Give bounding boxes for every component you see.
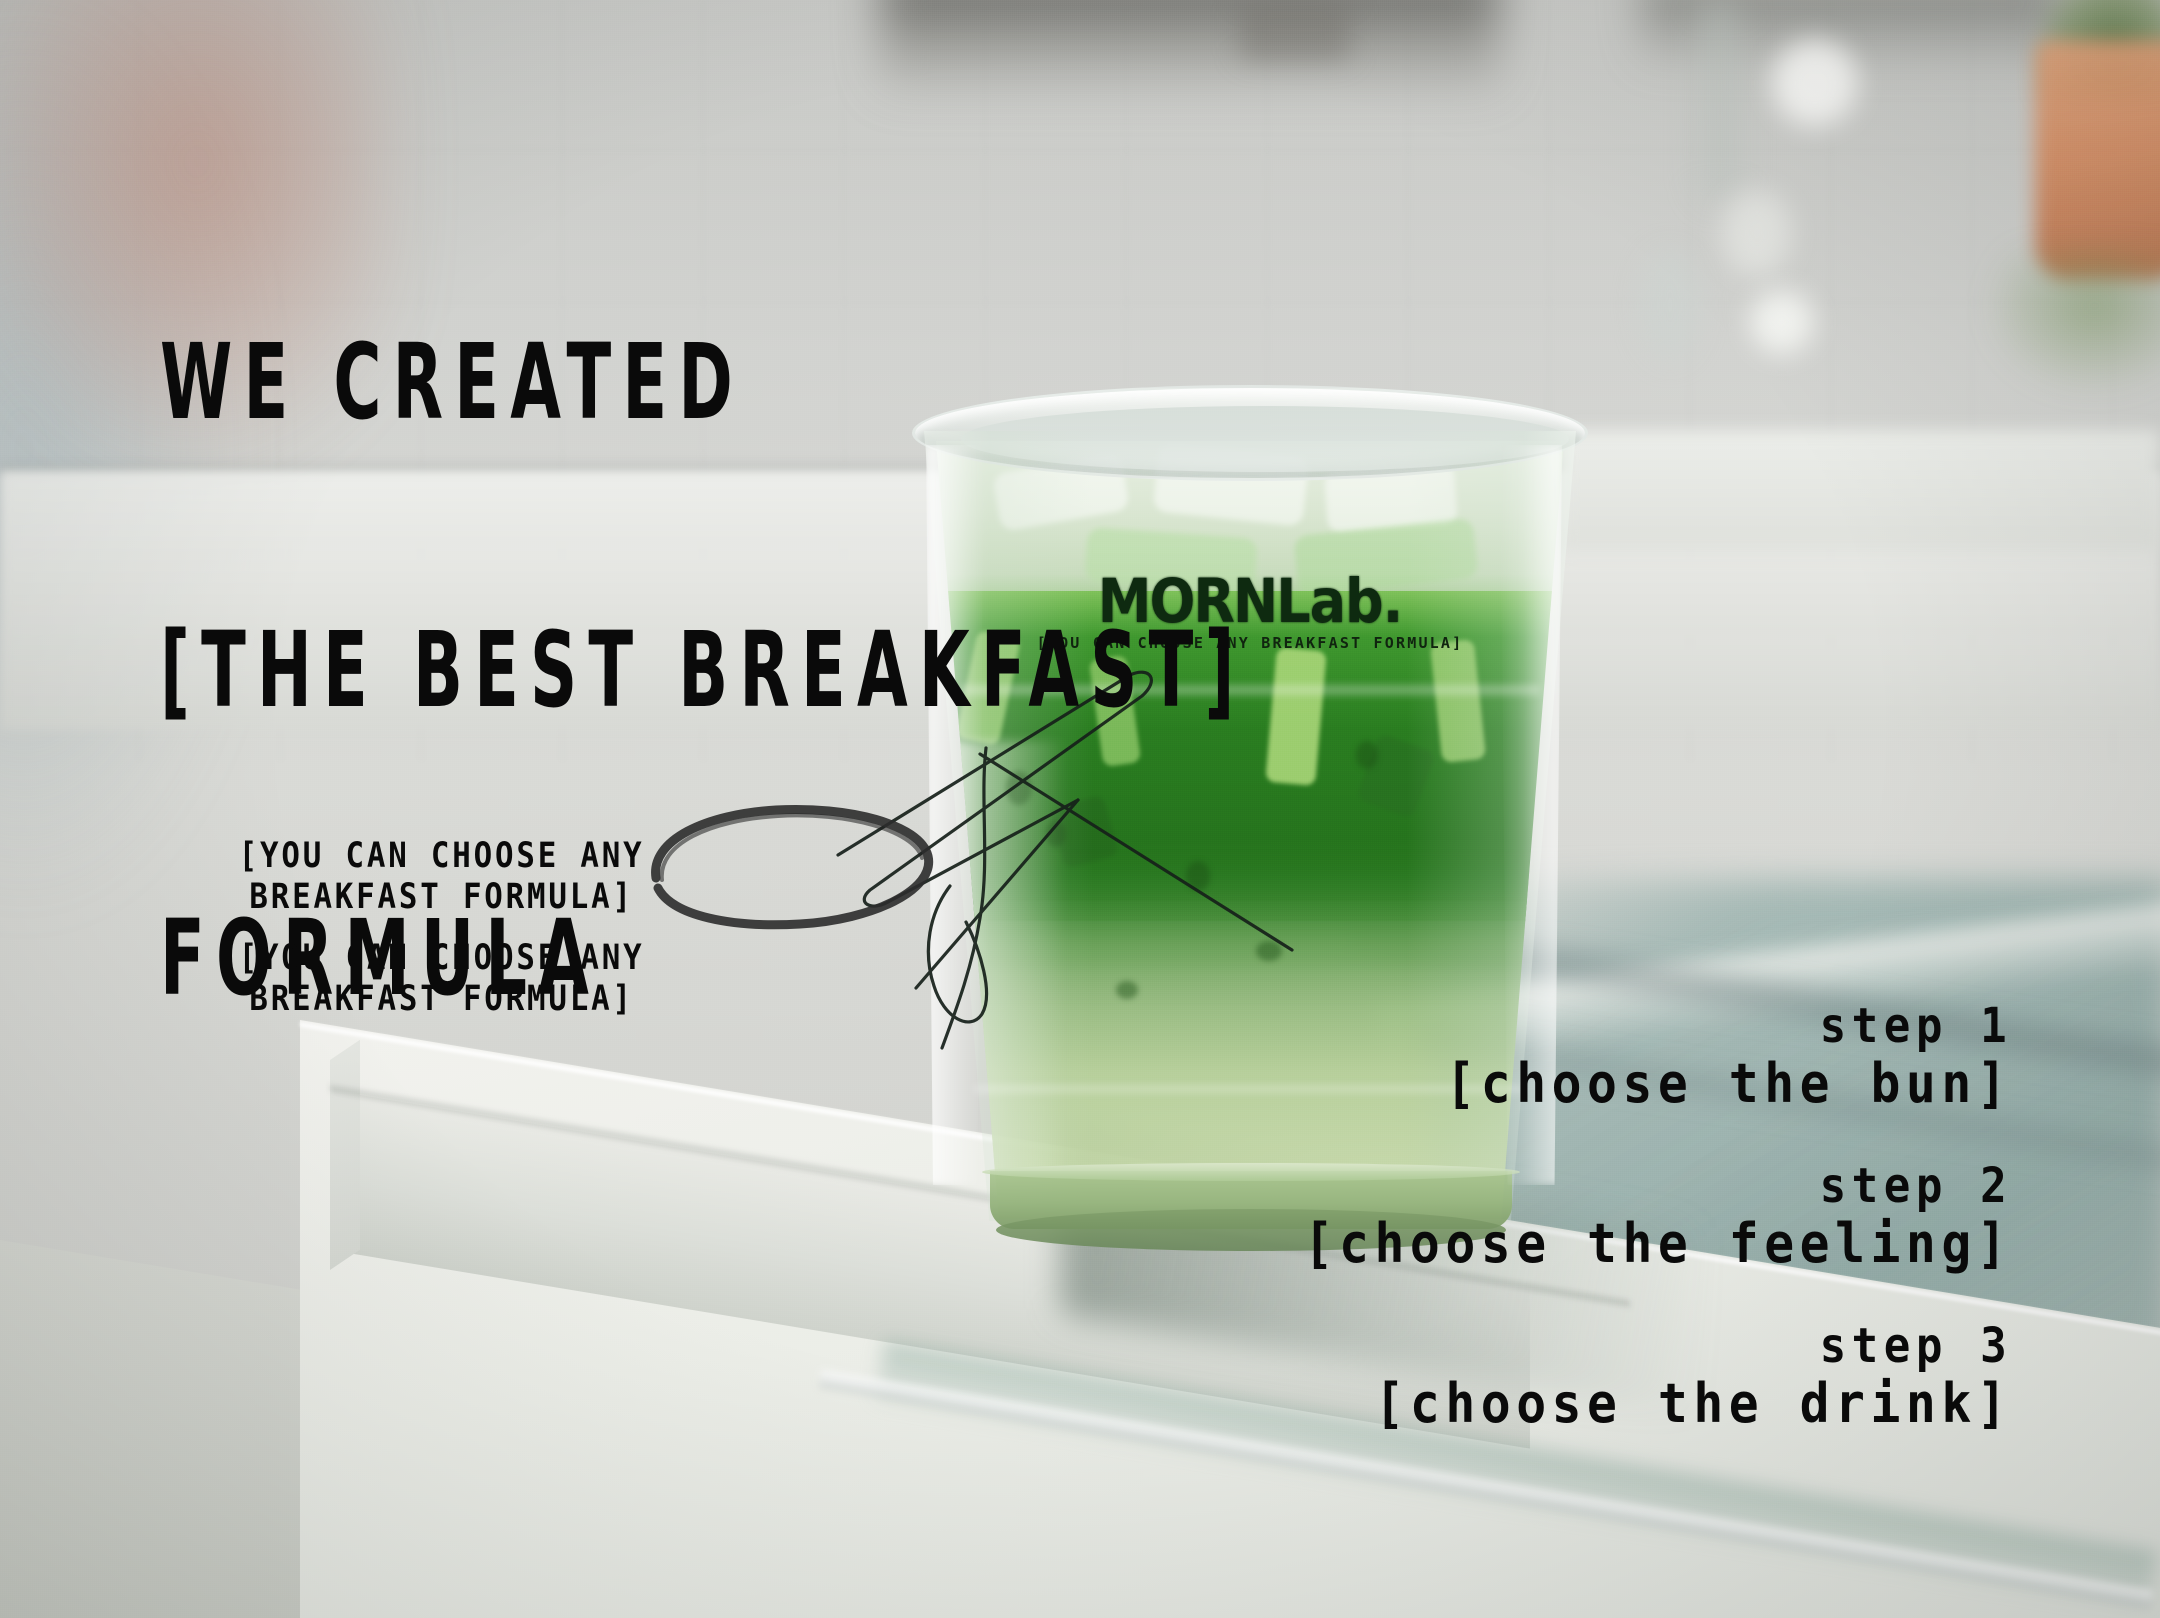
step-1-number: step 1 <box>1303 1000 2012 1052</box>
subtext-block-2: [YOU CAN CHOOSE ANY BREAKFAST FORMULA] <box>160 938 723 1020</box>
headline-line-2: [THE BEST BREAKFAST] <box>160 622 1246 718</box>
step-3-number: step 3 <box>1303 1320 2012 1372</box>
step-1-label: [choose the bun] <box>1303 1052 2012 1116</box>
step-item-2: step 2 [choose the feeling] <box>1242 1160 2012 1276</box>
step-3-label: [choose the drink] <box>1303 1372 2012 1436</box>
poster-canvas: MORNLab. [YOU CAN CHOOSE ANY BREAKFAST F… <box>0 0 2160 1618</box>
steps-list: step 1 [choose the bun] step 2 [choose t… <box>1242 1000 2012 1436</box>
step-item-3: step 3 [choose the drink] <box>1242 1320 2012 1436</box>
headline-line-1: WE CREATED <box>160 334 1246 430</box>
subtext-block-1: [YOU CAN CHOOSE ANY BREAKFAST FORMULA] <box>160 836 723 918</box>
step-2-number: step 2 <box>1303 1160 2012 1212</box>
step-2-label: [choose the feeling] <box>1303 1212 2012 1276</box>
step-item-1: step 1 [choose the bun] <box>1242 1000 2012 1116</box>
page-title: WE CREATED [THE BEST BREAKFAST] FORMULA <box>160 142 1246 1198</box>
text-layer: WE CREATED [THE BEST BREAKFAST] FORMULA … <box>0 0 2160 1618</box>
